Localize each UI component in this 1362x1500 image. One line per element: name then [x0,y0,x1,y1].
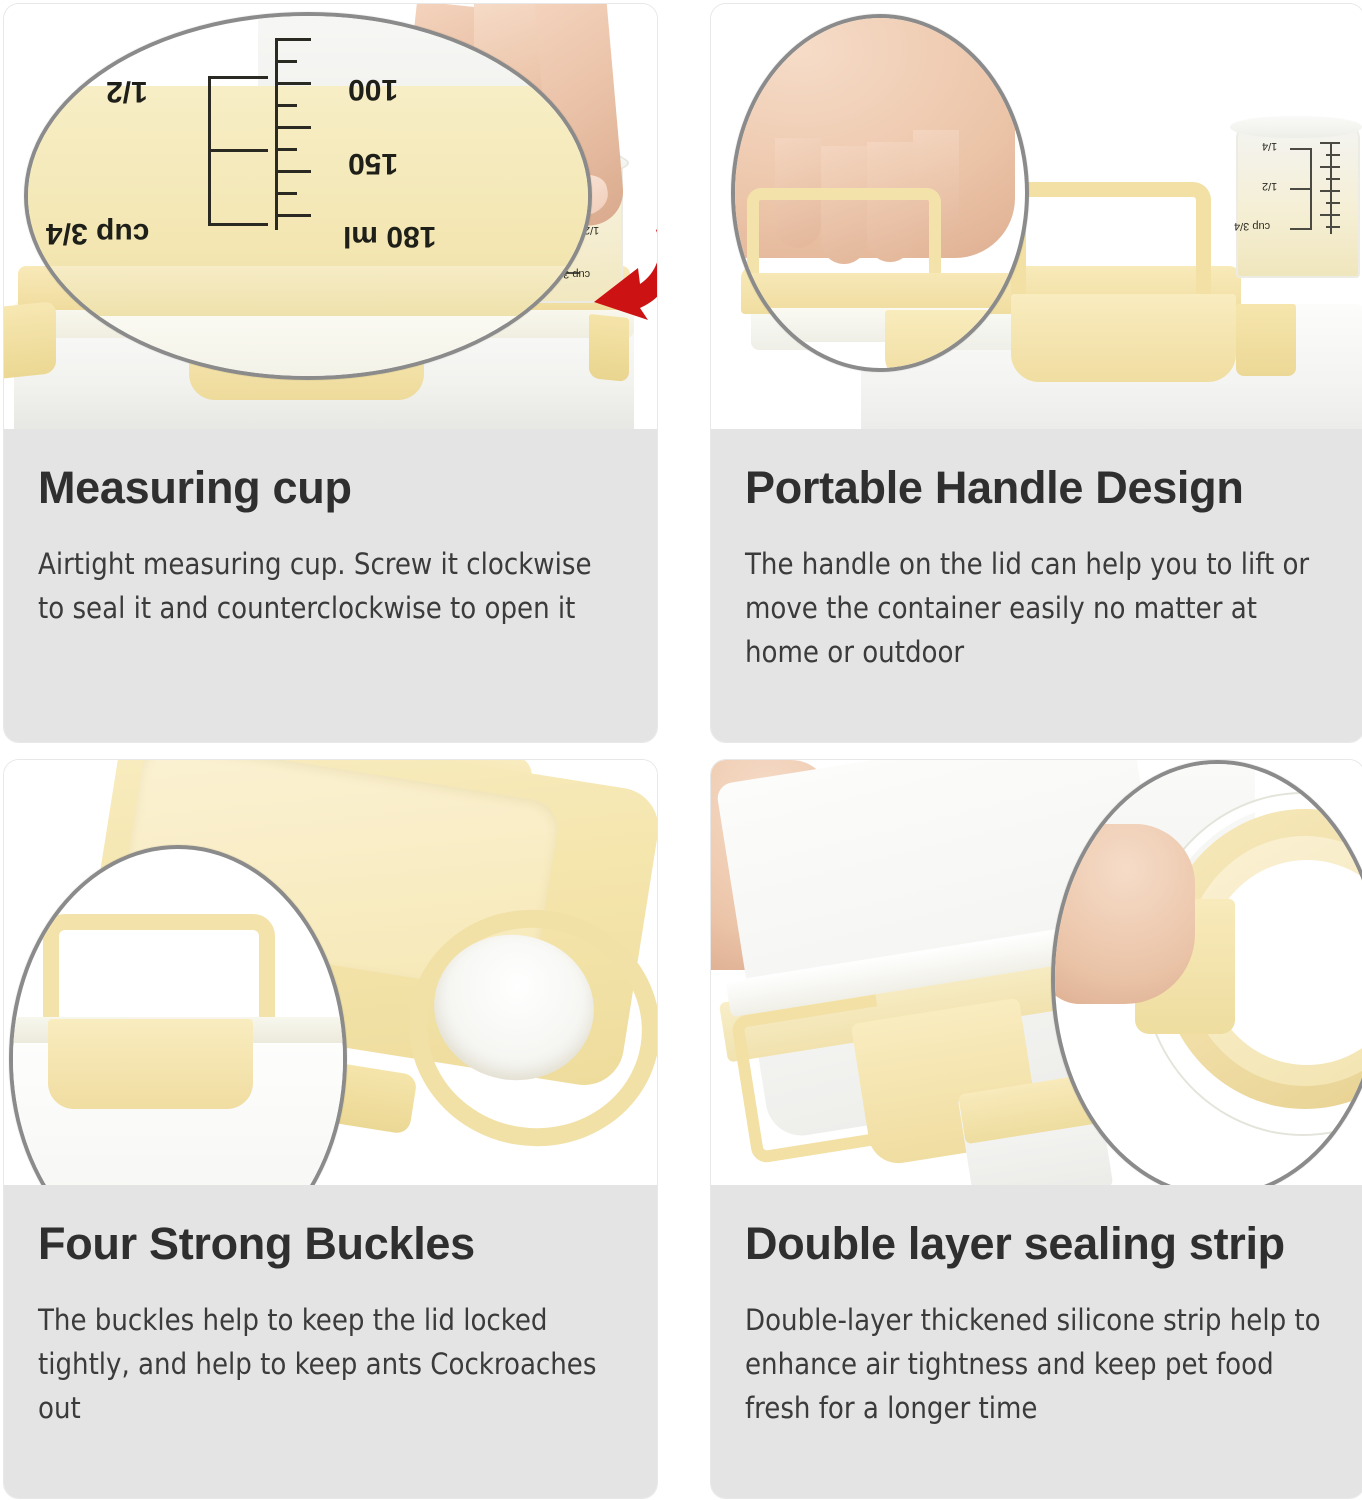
card-title: Double layer sealing strip [745,1221,1330,1268]
card-body: Airtight measuring cup. Screw it clockwi… [38,542,623,630]
product-photo-measuring-cup: 50 100 150 180 ml 1/4 1/2 cup 3/4 [4,4,657,429]
carry-handle [1011,182,1211,302]
card-title: Measuring cup [38,465,623,512]
feature-card-measuring-cup: 50 100 150 180 ml 1/4 1/2 cup 3/4 [3,3,658,743]
card-body: The handle on the lid can help you to li… [745,542,1330,674]
cup-scale-half: 1/2 [1262,180,1277,192]
feature-card-portable-handle: 1/4 1/2 cup 3/4 Portable Handle Design T… [710,3,1362,743]
lid-yellow-band [731,273,1029,313]
product-photo-sealing-strip [711,760,1362,1185]
card-title: Portable Handle Design [745,465,1330,512]
feature-grid: 50 100 150 180 ml 1/4 1/2 cup 3/4 [0,0,1362,1500]
card-body: The buckles help to keep the lid locked … [38,1298,623,1430]
magnifier-lens: 100 150 180 ml 1/2 cup 3/4 [24,12,592,380]
lens-scale-150: 150 [348,146,398,180]
measuring-cup: 1/4 1/2 cup 3/4 [1236,124,1360,278]
buckle-front [885,310,1029,372]
finger-peeling-strip [1051,824,1195,1004]
lens-scale-half: 1/2 [106,74,148,108]
card-body: Double-layer thickened silicone strip he… [745,1298,1330,1430]
caption-double-layer-sealing-strip: Double layer sealing strip Double-layer … [711,1185,1362,1498]
product-photo-buckles [4,760,657,1185]
lens-scale-180ml: 180 ml [343,219,436,253]
magnifier-lens [1051,760,1362,1185]
feature-card-four-strong-buckles: Four Strong Buckles The buckles help to … [3,759,658,1499]
card-title: Four Strong Buckles [38,1221,623,1268]
caption-portable-handle: Portable Handle Design The handle on the… [711,429,1362,742]
feature-card-double-layer-sealing-strip: Double layer sealing strip Double-layer … [710,759,1362,1499]
cup-scale-three-quarter: cup 3/4 [1234,220,1270,232]
measuring-cup-rim [1230,116,1362,138]
caption-measuring-cup: Measuring cup Airtight measuring cup. Sc… [4,429,657,742]
buckle-front [1011,294,1236,382]
magnifier-lens [731,14,1029,372]
lens-scale-three-quarter: cup 3/4 [46,216,149,250]
lens-lid-band [24,266,592,318]
cup-scale-quarter: 1/4 [1262,140,1277,152]
caption-four-strong-buckles: Four Strong Buckles The buckles help to … [4,1185,657,1498]
product-photo-portable-handle: 1/4 1/2 cup 3/4 [711,4,1362,429]
buckle-closeup [48,1019,253,1109]
lens-scale-100: 100 [348,72,398,106]
buckle-right [1236,304,1296,376]
lens-lid-base [24,316,592,380]
